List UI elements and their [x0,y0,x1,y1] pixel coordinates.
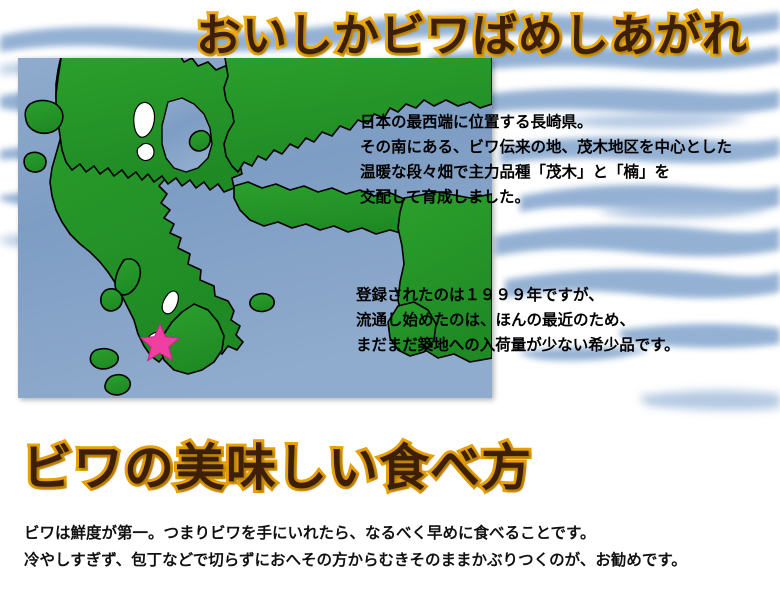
intro-line: 日本の最西端に位置する長崎県。 [360,110,732,135]
island [101,289,123,311]
intro-line: その南にある、ビワ伝来の地、茂木地区を中心とした [360,135,732,160]
island [24,152,46,172]
intro-line: 温暖な段々畑で主力品種「茂木」と「楠」を [360,160,732,185]
promo-page: おいしかビワばめしあがれ 日本の最西端に位置する長崎県。 その南にある、ビワ伝来… [0,0,780,604]
history-line: まだまだ築地への入荷量が少ない希少品です。 [356,333,680,358]
howto-text-block: ビワは鮮度が第一。つまりビワを手にいれたら、なるべく早めに食べることです。 冷や… [24,520,687,574]
history-line: 流通し始めたのは、ほんの最近のため、 [356,308,680,333]
intro-line: 交配して育成しました。 [360,185,732,210]
page-title: おいしかビワばめしあがれ [196,8,748,64]
howto-line: ビワは鮮度が第一。つまりビワを手にいれたら、なるべく早めに食べることです。 [24,520,687,547]
island [189,131,210,151]
howto-line: 冷やしすぎず、包丁などで切らずにおへその方からむきそのままかぶりつくのが、お勧め… [24,547,687,574]
island [105,375,130,395]
island [250,294,274,312]
history-text-block: 登録されたのは１９９９年ですが、 流通し始めたのは、ほんの最近のため、 まだまだ… [356,283,680,358]
section-title: ビワの美味しい食べ方 [22,437,532,499]
island [25,101,63,134]
intro-text-block: 日本の最西端に位置する長崎県。 その南にある、ビワ伝来の地、茂木地区を中心とした… [360,110,732,210]
history-line: 登録されたのは１９９９年ですが、 [356,283,680,308]
island [90,349,118,369]
